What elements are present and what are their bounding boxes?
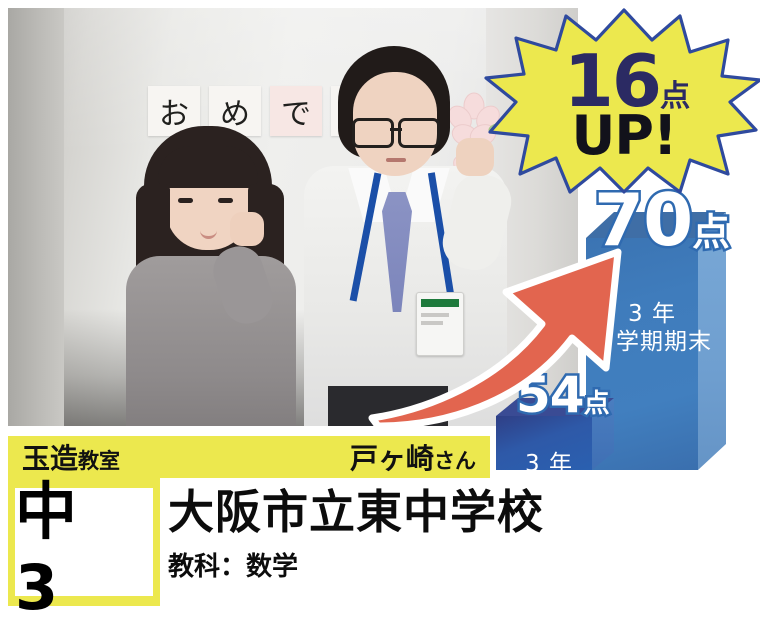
photo-left-panel [8, 8, 64, 426]
burst-text-group: 16点 UP! [484, 6, 760, 196]
improvement-direction: UP! [571, 112, 676, 161]
student-girl [126, 126, 296, 426]
boy-pants [328, 386, 448, 426]
girl-fringe [158, 146, 258, 188]
wall-card-furigana [148, 87, 200, 96]
score-after-unit: 点 [692, 210, 729, 254]
grade-value: 中 3 [15, 488, 153, 596]
student-suffix: さん [434, 449, 476, 473]
score-improvement-burst: 16点 UP! [484, 6, 760, 196]
glasses-icon [350, 118, 442, 144]
student-name: 戸ヶ崎 [350, 442, 434, 475]
score-before-value: 54点 [516, 366, 610, 424]
bar-after-label-line1: 3 年 [592, 300, 712, 328]
subject-label: 教科：数学 [168, 546, 568, 583]
student-label: 戸ヶ崎さん [350, 437, 476, 477]
girl-fist [230, 212, 264, 246]
girl-sweater [126, 256, 296, 426]
school-info: 大阪市立東中学校 教科：数学 [168, 488, 568, 583]
id-card-strip [421, 299, 459, 307]
score-before-unit: 点 [584, 389, 610, 419]
bar-after-label-line2: 2 学期期末 [592, 328, 712, 356]
glasses-lens-right [398, 118, 440, 148]
school-name: 大阪市立東中学校 [168, 488, 568, 536]
result-poster: お め で と う [0, 0, 760, 620]
boy-mouth [386, 158, 406, 162]
id-card-line [421, 321, 443, 325]
glasses-lens-left [352, 118, 394, 148]
id-card-line [421, 313, 449, 317]
wall-card-furigana [209, 87, 261, 96]
bar-before-label-line1: 3 年 [497, 450, 601, 478]
student-boy [298, 46, 513, 426]
girl-eye-right [218, 198, 233, 203]
girl-eye-left [178, 198, 193, 203]
id-card [416, 292, 464, 356]
bar-after-label: 3 年 2 学期期末 [592, 300, 712, 356]
score-before-number: 54 [516, 366, 584, 424]
grade-badge: 中 3 [8, 478, 160, 606]
